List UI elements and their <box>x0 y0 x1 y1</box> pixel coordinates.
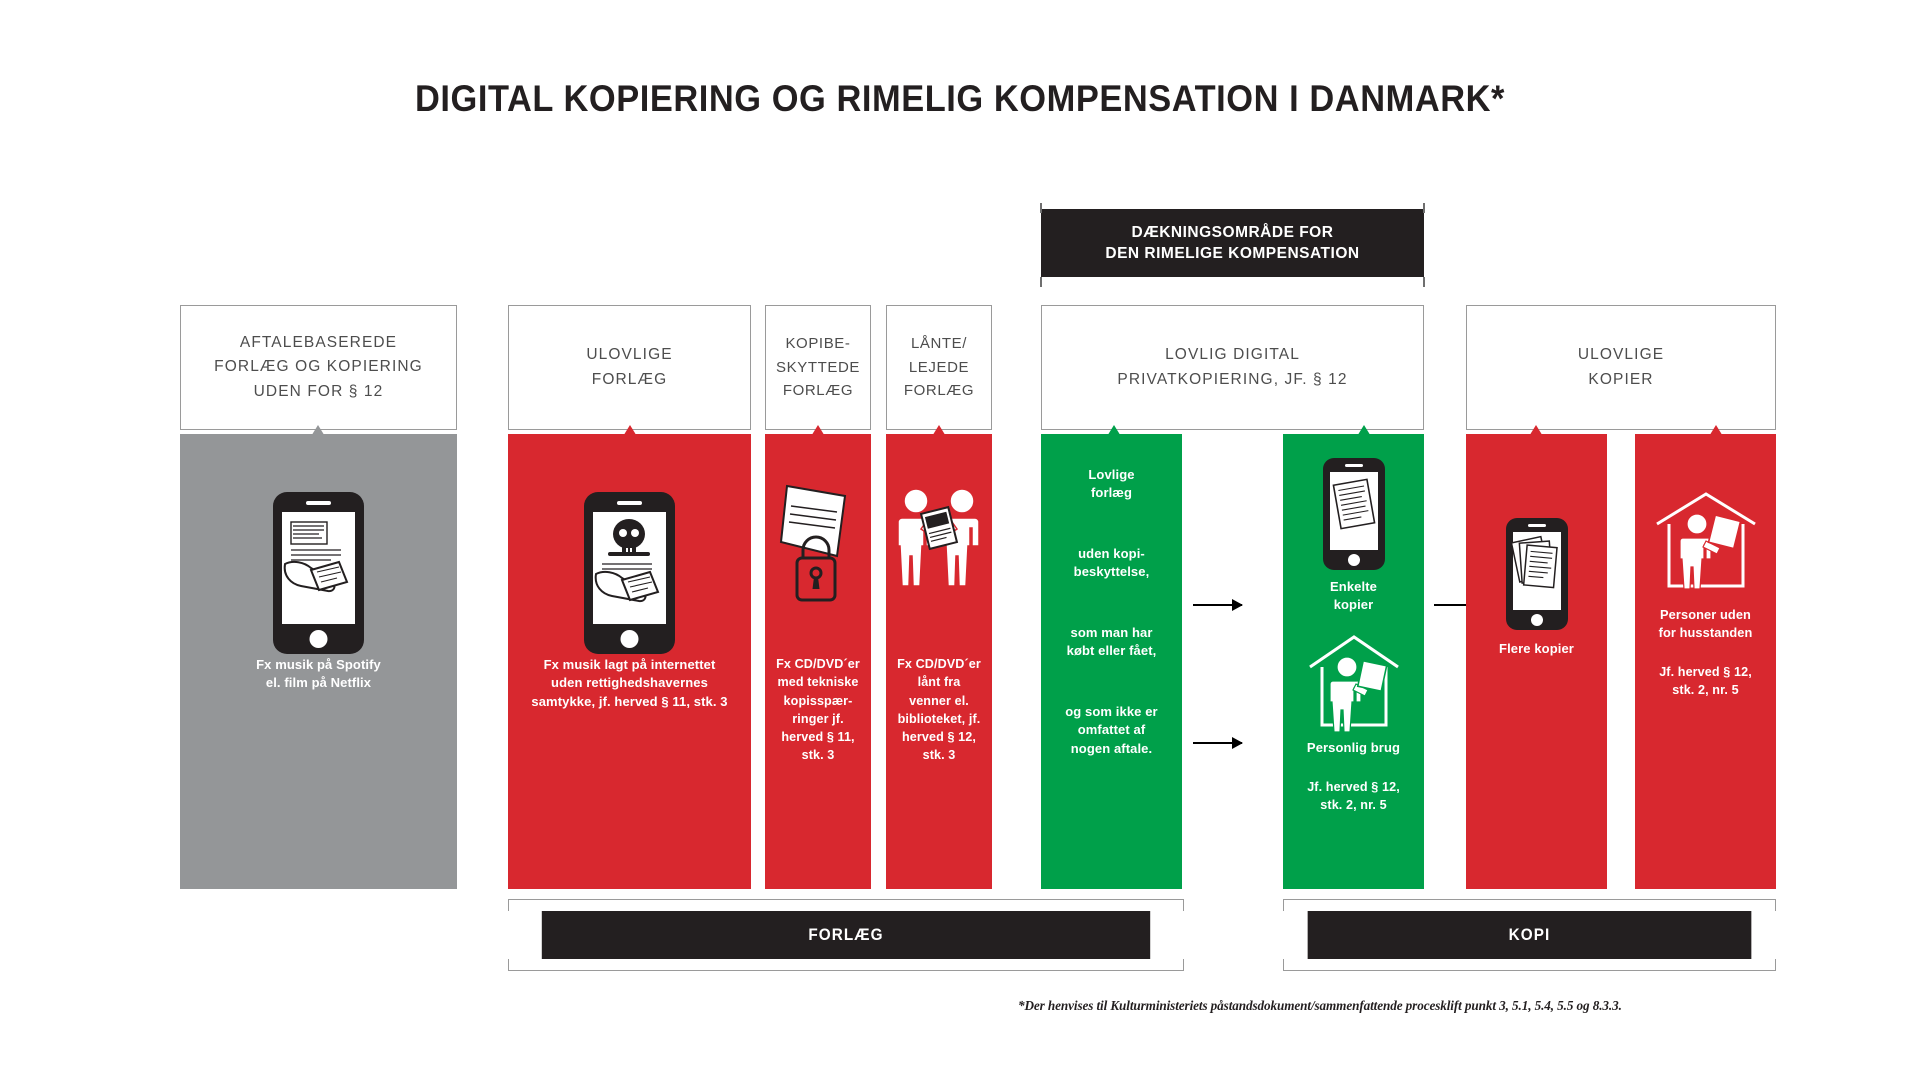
header-line: FORLÆG <box>776 379 860 403</box>
header-line: ULOVLIGE <box>586 343 672 367</box>
smartphone-pirate-icon <box>582 490 677 656</box>
header-ulovlige-forlaeg: ULOVLIGE FORLÆG <box>508 305 751 430</box>
header-line: PRIVATKOPIERING, JF. § 12 <box>1117 368 1347 392</box>
coverage-banner-line2: DEN RIMELIGE KOMPENSATION <box>1105 243 1359 264</box>
bottom-bar-label: KOPI <box>1509 925 1551 945</box>
body-line: stk. 3 <box>894 746 984 764</box>
body-line: Flere kopier <box>1474 640 1599 658</box>
body-line: Fx musik lagt på internettet <box>516 656 743 674</box>
header-laante-lejede-forlaeg: LÅNTE/ LEJEDE FORLÆG <box>886 305 992 430</box>
body-line: med tekniske <box>773 673 863 691</box>
body-line: kopier <box>1291 596 1416 614</box>
body-line: biblioteket, jf. <box>894 710 984 728</box>
header-line: LÅNTE/ <box>904 332 974 356</box>
header-line: LOVLIG DIGITAL <box>1117 343 1347 367</box>
note-personer-uden-for-husstanden: Jf. herved § 12, stk. 2, nr. 5 <box>1635 664 1776 700</box>
body-line: venner el. <box>894 692 984 710</box>
smartphone-document-icon <box>1321 456 1387 572</box>
body-line: købt eller fået, <box>1049 642 1174 660</box>
infographic-canvas: DIGITAL KOPIERING OG RIMELIG KOMPENSATIO… <box>0 0 1920 1080</box>
body-line: Lovlige <box>1049 466 1174 484</box>
column-lovlige-forlaeg: Lovlige forlæg uden kopi- beskyttelse, s… <box>1041 434 1182 889</box>
body-line: Personer uden <box>1643 606 1768 624</box>
coverage-area-banner: DÆKNINGSOMRÅDE FOR DEN RIMELIGE KOMPENSA… <box>1041 209 1424 277</box>
header-line: KOPIBE- <box>776 332 860 356</box>
two-people-sharing-icon <box>893 484 985 602</box>
body-line: Fx musik på Spotify <box>188 656 449 674</box>
banner-tick-left-bottom <box>1040 277 1042 287</box>
body-line: for husstanden <box>1643 624 1768 642</box>
bracket-kopi-bottom <box>1283 959 1776 971</box>
body-line: Jf. herved § 12, <box>1643 664 1768 682</box>
body-line: Personlig brug <box>1291 739 1416 757</box>
banner-tick-left <box>1040 203 1042 213</box>
banner-tick-right-bottom <box>1423 277 1425 287</box>
body-line: forlæg <box>1049 484 1174 502</box>
body-line: kopisspær- <box>773 692 863 710</box>
body-line: uden kopi- <box>1049 545 1174 563</box>
smartphone-multiple-copies-icon <box>1504 516 1570 632</box>
body-line: og som ikke er <box>1049 703 1174 721</box>
body-line: uden rettighedshavernes <box>516 674 743 692</box>
column-flere-kopier: Flere kopier <box>1466 434 1607 889</box>
note-personlig-brug: Jf. herved § 12, stk. 2, nr. 5 <box>1283 779 1424 815</box>
bracket-forlaeg-top <box>508 899 1184 911</box>
body-laante-lejede-forlaeg: Fx CD/DVD´er lånt fra venner el. bibliot… <box>886 655 992 764</box>
header-line: AFTALEBASEREDE <box>214 331 423 355</box>
body-line: el. film på Netflix <box>188 674 449 692</box>
arrow-to-personlig-brug <box>1193 742 1242 744</box>
label-flere-kopier: Flere kopier <box>1466 640 1607 658</box>
page-title: DIGITAL KOPIERING OG RIMELIG KOMPENSATIO… <box>67 78 1853 120</box>
body-line: Jf. herved § 12, <box>1291 779 1416 797</box>
footnote: *Der henvises til Kulturministeriets pås… <box>1018 998 1808 1014</box>
coverage-banner-line1: DÆKNINGSOMRÅDE FOR <box>1132 222 1334 243</box>
header-aftalebaserede: AFTALEBASEREDE FORLÆG OG KOPIERING UDEN … <box>180 305 457 430</box>
bottom-bar-kopi: KOPI <box>1308 911 1752 959</box>
header-line: UDEN FOR § 12 <box>214 380 423 404</box>
header-line: KOPIER <box>1578 368 1664 392</box>
header-line: FORLÆG <box>904 379 974 403</box>
bracket-kopi-top <box>1283 899 1776 911</box>
header-kopibeskyttede-forlaeg: KOPIBE- SKYTTEDE FORLÆG <box>765 305 871 430</box>
body-line: Enkelte <box>1291 578 1416 596</box>
body-line: som man har <box>1049 624 1174 642</box>
lovlige-forlaeg-block-2: uden kopi- beskyttelse, <box>1041 545 1182 582</box>
header-ulovlige-kopier: ULOVLIGE KOPIER <box>1466 305 1776 430</box>
header-line: SKYTTEDE <box>776 356 860 380</box>
body-line: beskyttelse, <box>1049 563 1174 581</box>
column-laante-lejede-forlaeg: Fx CD/DVD´er lånt fra venner el. bibliot… <box>886 434 992 889</box>
arrow-to-enkelte-kopier <box>1193 604 1242 606</box>
header-line: FORLÆG <box>586 368 672 392</box>
header-line: ULOVLIGE <box>1578 343 1664 367</box>
header-lovlig-digital-privatkopiering: LOVLIG DIGITAL PRIVATKOPIERING, JF. § 12 <box>1041 305 1424 430</box>
header-line: FORLÆG OG KOPIERING <box>214 355 423 379</box>
body-ulovlige-forlaeg: Fx musik lagt på internettet uden rettig… <box>508 656 751 711</box>
column-personer-uden-for-husstanden: Personer uden for husstanden Jf. herved … <box>1635 434 1776 889</box>
body-line: lånt fra <box>894 673 984 691</box>
bracket-forlaeg-bottom <box>508 959 1184 971</box>
document-lock-icon <box>775 478 861 618</box>
body-line: samtykke, jf. herved § 11, stk. 3 <box>516 693 743 711</box>
body-line: omfattet af <box>1049 721 1174 739</box>
body-line: herved § 11, <box>773 728 863 746</box>
label-enkelte-kopier: Enkelte kopier <box>1283 578 1424 615</box>
body-line: stk. 2, nr. 5 <box>1291 797 1416 815</box>
column-ulovlige-forlaeg: Fx musik lagt på internettet uden rettig… <box>508 434 751 889</box>
banner-tick-right <box>1423 203 1425 213</box>
body-aftalebaserede: Fx musik på Spotify el. film på Netflix <box>180 656 457 693</box>
column-aftalebaserede: Fx musik på Spotify el. film på Netflix <box>180 434 457 889</box>
body-line: ringer jf. <box>773 710 863 728</box>
house-person-outside-icon <box>1647 488 1765 598</box>
body-line: Fx CD/DVD´er <box>894 655 984 673</box>
body-line: stk. 2, nr. 5 <box>1643 682 1768 700</box>
label-personer-uden-for-husstanden: Personer uden for husstanden <box>1635 606 1776 642</box>
body-kopibeskyttede-forlaeg: Fx CD/DVD´er med tekniske kopisspær- rin… <box>765 655 871 764</box>
body-line: nogen aftale. <box>1049 740 1174 758</box>
body-line: Fx CD/DVD´er <box>773 655 863 673</box>
header-line: LEJEDE <box>904 356 974 380</box>
lovlige-forlaeg-block-4: og som ikke er omfattet af nogen aftale. <box>1041 703 1182 758</box>
house-person-copy-icon <box>1302 629 1406 733</box>
column-enkelte-kopier: Enkelte kopier Personlig brug Jf. herved <box>1283 434 1424 889</box>
body-line: stk. 3 <box>773 746 863 764</box>
body-line: herved § 12, <box>894 728 984 746</box>
smartphone-handshake-icon <box>271 490 366 656</box>
column-kopibeskyttede-forlaeg: Fx CD/DVD´er med tekniske kopisspær- rin… <box>765 434 871 889</box>
bottom-bar-forlaeg: FORLÆG <box>542 911 1150 959</box>
lovlige-forlaeg-block-1: Lovlige forlæg <box>1041 466 1182 503</box>
label-personlig-brug: Personlig brug <box>1283 739 1424 757</box>
bottom-bar-label: FORLÆG <box>808 925 883 945</box>
lovlige-forlaeg-block-3: som man har købt eller fået, <box>1041 624 1182 661</box>
